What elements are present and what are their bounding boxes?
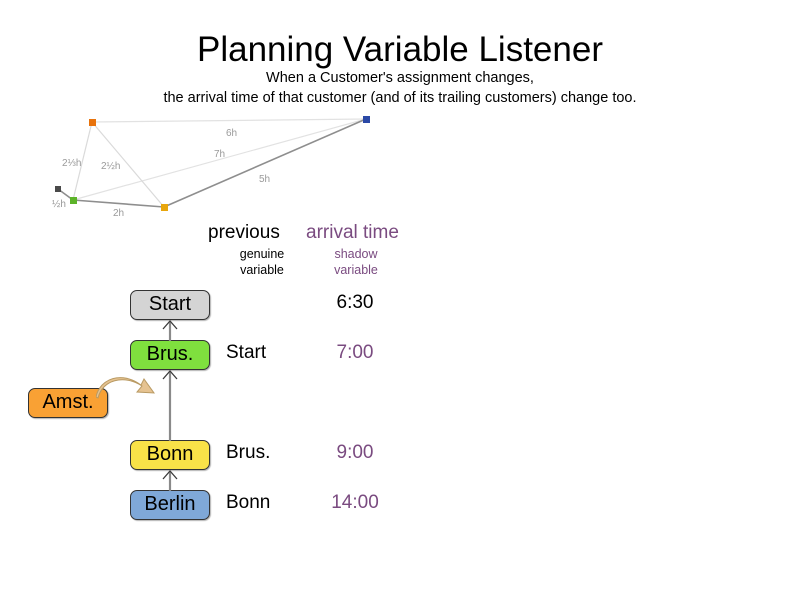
- row-arrival-time-brus: 7:00: [316, 342, 394, 364]
- column-header-arrival-time: arrival time: [306, 222, 399, 244]
- edge-label-2-half-h: 2½h: [101, 161, 120, 172]
- assignment-change-arrow: [96, 372, 162, 412]
- graph-node-brussels: [70, 197, 77, 204]
- chain-node-start[interactable]: Start: [130, 290, 210, 320]
- edge-bonn-berlin: [164, 119, 366, 207]
- chain-arrow-brus-to-start: [159, 320, 181, 341]
- edge-label-5h: 5h: [259, 174, 270, 185]
- row-arrival-time-bonn: 9:00: [316, 442, 394, 464]
- column-header-previous: previous: [208, 222, 280, 244]
- graph-node-depot: [55, 186, 61, 192]
- row-arrival-time-berlin: 14:00: [316, 492, 394, 514]
- route-graph: 6h 7h 5h 2⅓h 2½h ½h 2h: [40, 108, 385, 223]
- page-subtitle: When a Customer's assignment changes, th…: [0, 68, 800, 108]
- column-subtitle-genuine: genuine variable: [222, 246, 302, 278]
- row-previous-bonn: Brus.: [226, 442, 270, 464]
- subtitle-line-2: the arrival time of that customer (and o…: [0, 88, 800, 108]
- graph-node-berlin: [363, 116, 370, 123]
- chain-node-berlin[interactable]: Berlin: [130, 490, 210, 520]
- chain-node-brus[interactable]: Brus.: [130, 340, 210, 370]
- edge-label-6h: 6h: [226, 128, 237, 139]
- edge-label-7h: 7h: [214, 149, 225, 160]
- graph-node-bonn: [161, 204, 168, 211]
- chain-arrow-bonn-to-brus: [159, 370, 181, 441]
- row-previous-berlin: Bonn: [226, 492, 270, 514]
- row-arrival-time-start: 6:30: [316, 292, 394, 314]
- edge-brussels-bonn: [73, 200, 164, 207]
- page-title: Planning Variable Listener: [0, 30, 800, 70]
- row-previous-brus: Start: [226, 342, 266, 364]
- column-subtitle-shadow: shadow variable: [316, 246, 396, 278]
- edge-label-2-third-h: 2⅓h: [62, 158, 81, 169]
- column-subtitle-genuine-line1: genuine: [222, 246, 302, 262]
- route-graph-svg: [40, 108, 385, 223]
- chain-arrow-berlin-to-bonn: [159, 470, 181, 491]
- subtitle-line-1: When a Customer's assignment changes,: [0, 68, 800, 88]
- graph-node-amsterdam: [89, 119, 96, 126]
- column-subtitle-shadow-line2: variable: [316, 262, 396, 278]
- edge-label-half-h: ½h: [52, 199, 66, 210]
- column-subtitle-shadow-line1: shadow: [316, 246, 396, 262]
- edge-label-2h: 2h: [113, 208, 124, 219]
- chain-node-bonn[interactable]: Bonn: [130, 440, 210, 470]
- edge-amsterdam-berlin: [92, 119, 366, 122]
- column-subtitle-genuine-line2: variable: [222, 262, 302, 278]
